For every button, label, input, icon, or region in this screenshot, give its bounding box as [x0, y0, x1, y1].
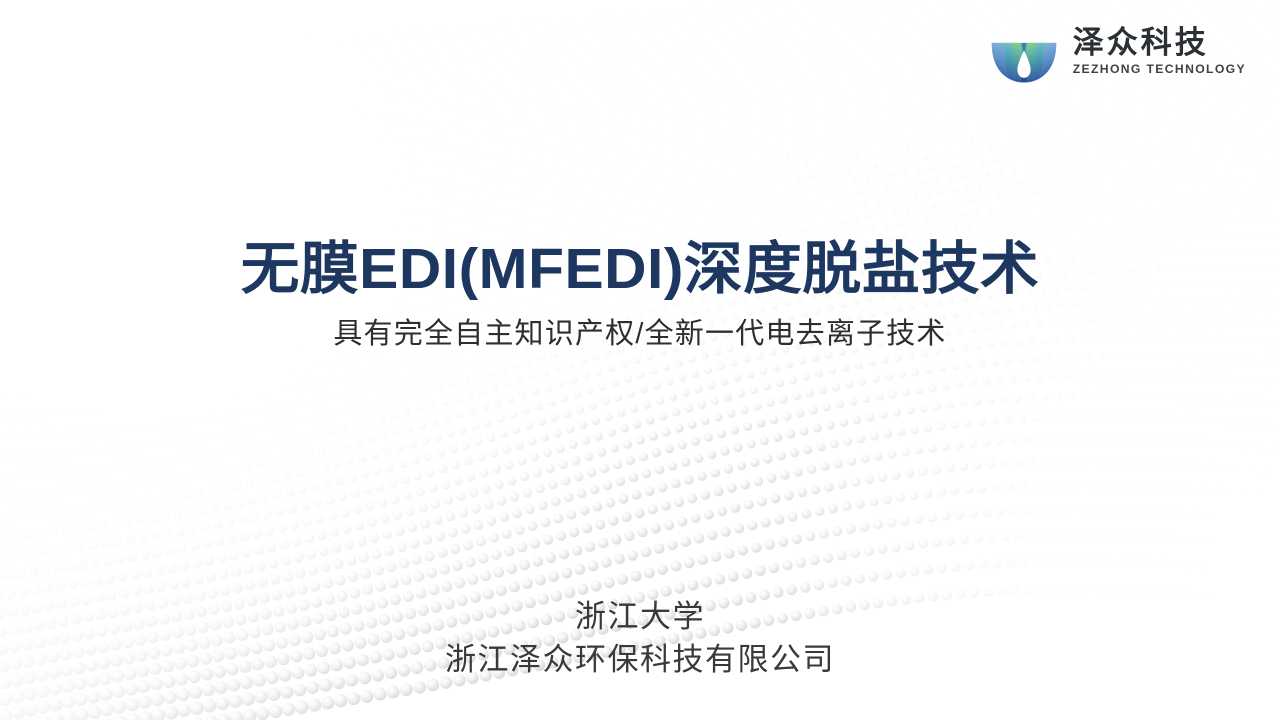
- slide-subtitle: 具有完全自主知识产权/全新一代电去离子技术: [0, 317, 1280, 352]
- lotus-waterdrop-logo-icon: [987, 18, 1061, 84]
- affiliation-line-1: 浙江大学: [0, 596, 1280, 639]
- affiliation-block: 浙江大学 浙江泽众环保科技有限公司: [0, 596, 1280, 682]
- logo-company-name-en: ZEZHONG TECHNOLOGY: [1073, 63, 1246, 76]
- affiliation-line-2: 浙江泽众环保科技有限公司: [0, 639, 1280, 682]
- logo-wordmark: 泽众科技 ZEZHONG TECHNOLOGY: [1073, 26, 1246, 76]
- title-slide: 泽众科技 ZEZHONG TECHNOLOGY 无膜EDI(MFEDI)深度脱盐…: [0, 0, 1280, 720]
- slide-title: 无膜EDI(MFEDI)深度脱盐技术: [0, 238, 1280, 302]
- company-logo: 泽众科技 ZEZHONG TECHNOLOGY: [987, 18, 1246, 84]
- logo-company-name-cn: 泽众科技: [1073, 26, 1209, 59]
- headline-block: 无膜EDI(MFEDI)深度脱盐技术 具有完全自主知识产权/全新一代电去离子技术: [0, 238, 1280, 352]
